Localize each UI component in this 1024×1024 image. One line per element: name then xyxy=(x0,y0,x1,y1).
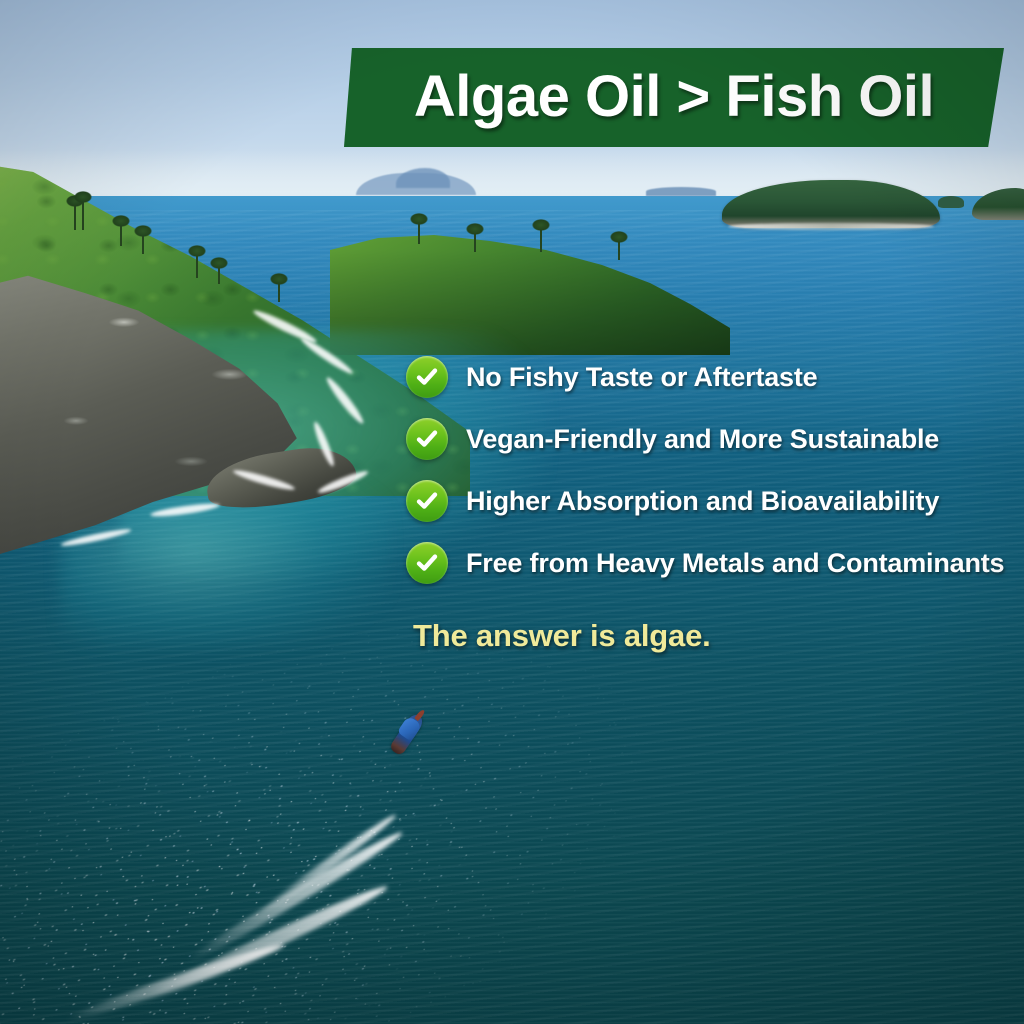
palm-tree-icon xyxy=(474,232,476,252)
benefit-label: Higher Absorption and Bioavailability xyxy=(466,486,939,517)
check-mark-icon xyxy=(406,356,448,398)
palm-tree-icon xyxy=(196,254,198,278)
palm-tree-icon xyxy=(618,240,620,260)
poster-canvas: Algae Oil > Fish Oil No Fishy Taste or A… xyxy=(0,0,1024,1024)
list-item: Vegan-Friendly and More Sustainable xyxy=(406,408,1016,470)
palm-tree-icon xyxy=(120,224,122,246)
island-small xyxy=(938,196,964,208)
palm-tree-icon xyxy=(218,266,220,284)
benefit-label: Vegan-Friendly and More Sustainable xyxy=(466,424,939,455)
palm-tree-icon xyxy=(278,282,280,302)
benefit-label: No Fishy Taste or Aftertaste xyxy=(466,362,817,393)
palm-tree-icon xyxy=(74,204,76,230)
boat-wake xyxy=(150,740,480,1020)
title-banner-inner: Algae Oil > Fish Oil xyxy=(344,48,1004,147)
check-mark-icon xyxy=(406,480,448,522)
benefit-label: Free from Heavy Metals and Contaminants xyxy=(466,548,1004,579)
palm-tree-icon xyxy=(540,228,542,252)
palm-tree-icon xyxy=(82,200,84,230)
palm-tree-icon xyxy=(418,222,420,244)
wake-arm-spray xyxy=(255,811,398,919)
palm-tree-icon xyxy=(142,234,144,254)
title-banner: Algae Oil > Fish Oil xyxy=(344,48,1004,147)
list-item: No Fishy Taste or Aftertaste xyxy=(406,346,1016,408)
tagline-text: The answer is algae. xyxy=(413,618,711,654)
list-item: Higher Absorption and Bioavailability xyxy=(406,470,1016,532)
wake-arm-lower xyxy=(139,880,390,1009)
page-title: Algae Oil > Fish Oil xyxy=(414,68,934,126)
list-item: Free from Heavy Metals and Contaminants xyxy=(406,532,1016,594)
check-mark-icon xyxy=(406,542,448,584)
benefit-list: No Fishy Taste or Aftertaste Vegan-Frien… xyxy=(406,346,1016,594)
check-mark-icon xyxy=(406,418,448,460)
